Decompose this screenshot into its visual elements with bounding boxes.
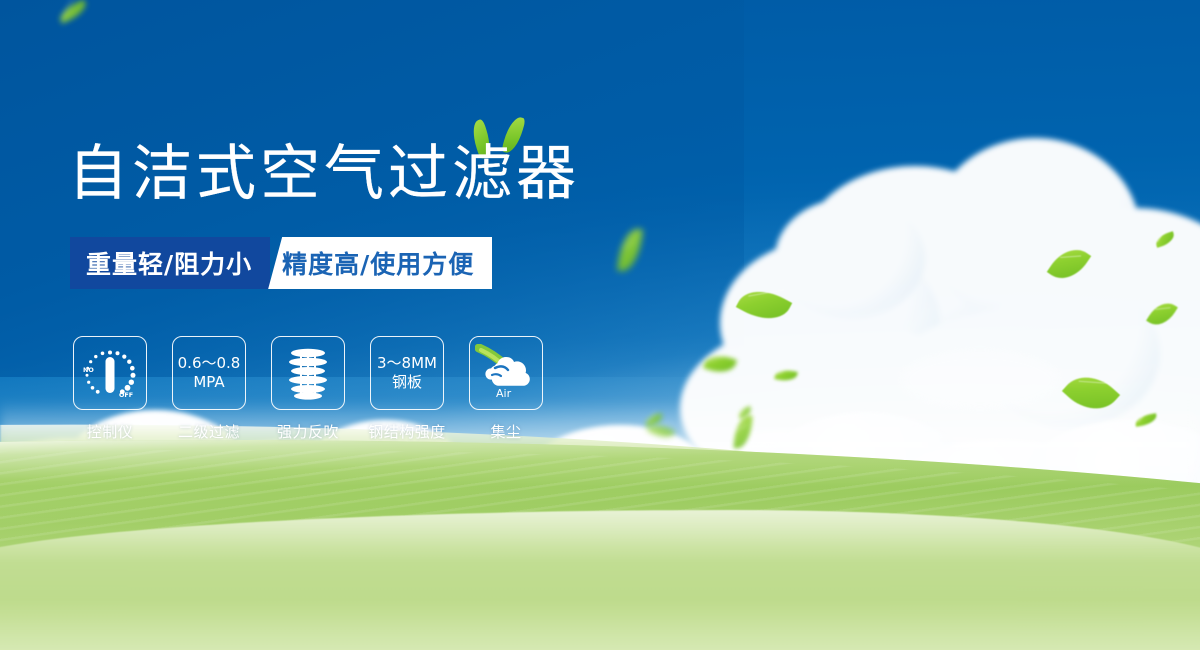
- pressure-text-icon: 0.6～0.8 MPA: [172, 336, 246, 410]
- steel-line-2: 钢板: [392, 373, 422, 392]
- feature-item-steel-plate[interactable]: 3～8MM 钢板 钢结构强度: [369, 336, 445, 442]
- feature-list: NO OFF 控制仪 0.6～0.8 MPA 二级过滤: [72, 336, 544, 442]
- subtitle-right-badge: 精度高/使用方便: [268, 237, 492, 289]
- grass-foreground: [0, 510, 1200, 650]
- svg-text:Air: Air: [496, 387, 512, 400]
- subtitle-badge-bar: 重量轻/阻力小 精度高/使用方便: [70, 237, 492, 289]
- feature-item-dust-collection[interactable]: Air 集尘: [468, 336, 544, 442]
- subtitle-left-badge: 重量轻/阻力小: [70, 237, 270, 289]
- cloud-air-icon: Air: [469, 336, 543, 410]
- feature-item-pressure[interactable]: 0.6～0.8 MPA 二级过滤: [171, 336, 247, 442]
- feature-item-control-gauge[interactable]: NO OFF 控制仪: [72, 336, 148, 442]
- hero-banner: 自洁式空气过滤器 重量轻/阻力小 精度高/使用方便: [0, 0, 1200, 650]
- filter-coil-icon: [271, 336, 345, 410]
- steel-plate-text-icon: 3～8MM 钢板: [370, 336, 444, 410]
- feature-item-blowback[interactable]: 强力反吹: [270, 336, 346, 442]
- feature-label: 钢结构强度: [368, 421, 446, 442]
- steel-line-1: 3～8MM: [377, 354, 437, 373]
- gauge-dial-icon: NO OFF: [73, 336, 147, 410]
- feature-label: 二级过滤: [178, 421, 240, 442]
- feature-label: 强力反吹: [277, 421, 339, 442]
- feature-label: 控制仪: [87, 421, 134, 442]
- pressure-line-2: MPA: [193, 373, 224, 392]
- page-title: 自洁式空气过滤器: [68, 140, 580, 208]
- feature-label: 集尘: [490, 421, 521, 442]
- svg-text:OFF: OFF: [119, 391, 133, 399]
- svg-text:NO: NO: [83, 366, 94, 374]
- pressure-line-1: 0.6～0.8: [178, 354, 241, 373]
